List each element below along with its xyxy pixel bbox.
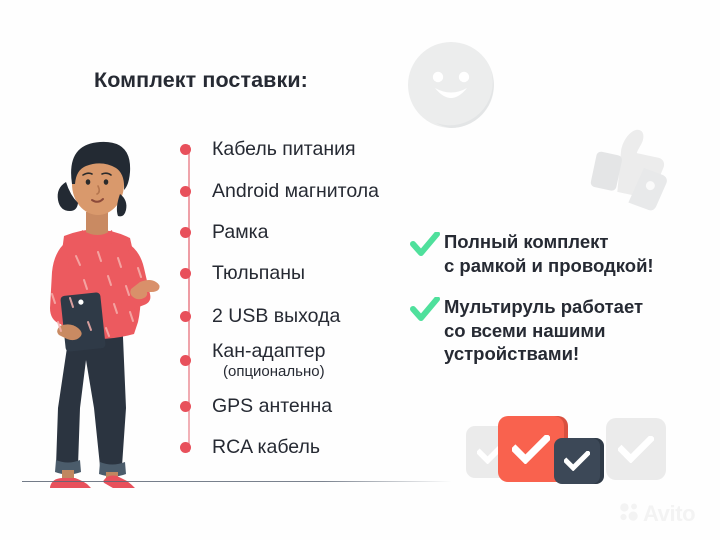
bullet-dot-icon	[180, 311, 191, 322]
green-check-icon	[410, 297, 440, 323]
list-item: 2 USB выхода	[180, 306, 340, 326]
checkbox-cards-group	[466, 416, 656, 486]
bullet-dot-icon	[180, 144, 191, 155]
list-item-label: Рамка	[212, 222, 268, 242]
list-item: Android магнитола	[180, 181, 379, 201]
benefit-item: Мультируль работает со всеми нашими устр…	[410, 295, 643, 366]
benefit-line: Полный комплект	[444, 230, 654, 254]
list-item-label: 2 USB выхода	[212, 306, 340, 326]
benefit-line: со всеми нашими	[444, 319, 643, 343]
benefit-line: с рамкой и проводкой!	[444, 254, 654, 278]
benefit-item: Полный комплект с рамкой и проводкой!	[410, 230, 654, 277]
checkbox-card-grey-right	[606, 418, 666, 480]
bullet-dot-icon	[180, 355, 191, 366]
list-item: Тюльпаны	[180, 263, 305, 283]
benefit-line: устройствами!	[444, 342, 643, 366]
list-item-label: GPS антенна	[212, 396, 332, 416]
list-item-label: Кабель питания	[212, 139, 356, 159]
avito-watermark-text: Avito	[643, 503, 695, 525]
green-check-icon	[410, 232, 440, 258]
bullet-dot-icon	[180, 268, 191, 279]
promo-image-canvas: Комплект поставки: Кабель питания Androi…	[0, 0, 720, 540]
list-item: RCA кабель	[180, 437, 320, 457]
benefit-line: Мультируль работает	[444, 295, 643, 319]
list-item: GPS антенна	[180, 396, 332, 416]
list-item: Кан-адаптер (опционально)	[180, 341, 326, 380]
list-item: Рамка	[180, 222, 268, 242]
bullet-dot-icon	[180, 227, 191, 238]
list-item-label: Android магнитола	[212, 181, 379, 201]
list-item: Кабель питания	[180, 139, 356, 159]
list-item-label: Тюльпаны	[212, 263, 305, 283]
avito-watermark: Avito	[618, 500, 714, 528]
list-item-sublabel: (опционально)	[223, 364, 326, 380]
bullet-dot-icon	[180, 401, 191, 412]
bullet-dot-icon	[180, 442, 191, 453]
checkbox-card-navy	[554, 438, 600, 484]
avito-dots-logo	[618, 501, 640, 528]
bullet-dot-icon	[180, 186, 191, 197]
list-item-label: RCA кабель	[212, 437, 320, 457]
list-item-label: Кан-адаптер	[212, 341, 326, 361]
benefit-text: Полный комплект с рамкой и проводкой!	[444, 230, 654, 277]
benefit-text: Мультируль работает со всеми нашими устр…	[444, 295, 643, 366]
